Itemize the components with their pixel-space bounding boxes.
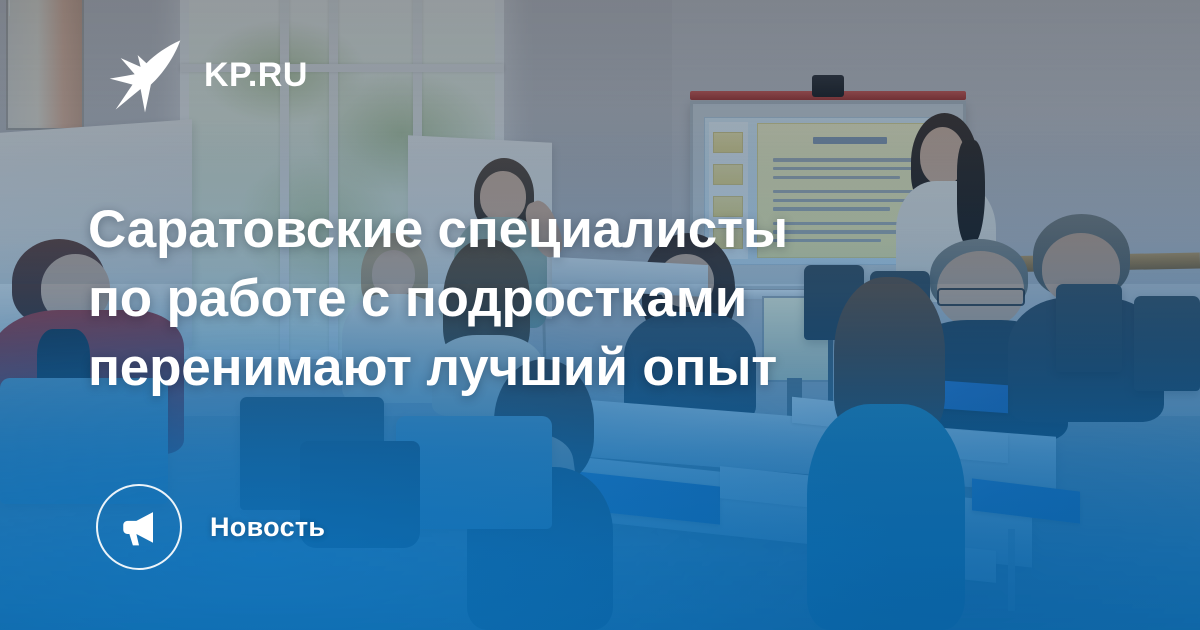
title-line-1: Саратовские специалисты	[88, 196, 908, 265]
title-line-3: перенимают лучший опыт	[88, 334, 908, 403]
badge-circle	[96, 484, 182, 570]
category-badge[interactable]: Новость	[96, 484, 325, 570]
swallow-bird-logo-icon	[108, 36, 182, 114]
page-title: Саратовские специалисты по работе с подр…	[88, 196, 908, 403]
brand-lockup[interactable]: KP.RU	[108, 36, 308, 114]
megaphone-icon	[118, 506, 160, 548]
badge-label: Новость	[210, 512, 325, 543]
brand-name: KP.RU	[204, 58, 308, 92]
title-line-2: по работе с подростками	[88, 265, 908, 334]
overlay-content: KP.RU Саратовские специалисты по работе …	[0, 0, 1200, 630]
share-card: KP.RU Саратовские специалисты по работе …	[0, 0, 1200, 630]
